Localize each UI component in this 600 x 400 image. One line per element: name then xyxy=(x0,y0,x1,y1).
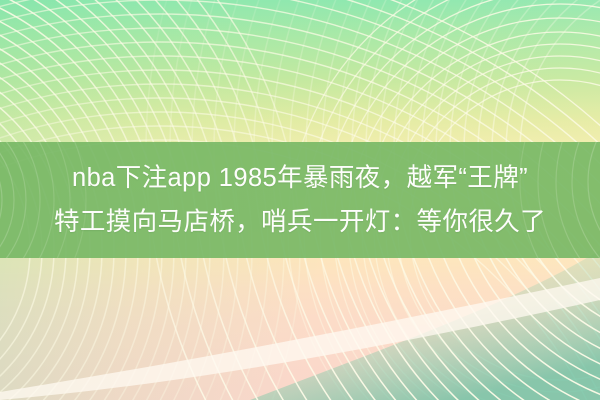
headline-line-2: 特工摸向马店桥，哨兵一开灯：等你很久了 xyxy=(54,200,546,244)
headline-banner: nba下注app 1985年暴雨夜，越军“王牌” 特工摸向马店桥，哨兵一开灯：等… xyxy=(0,142,600,258)
poster-image: nba下注app 1985年暴雨夜，越军“王牌” 特工摸向马店桥，哨兵一开灯：等… xyxy=(0,0,600,400)
headline-text-block: nba下注app 1985年暴雨夜，越军“王牌” 特工摸向马店桥，哨兵一开灯：等… xyxy=(0,142,600,258)
headline-line-1: nba下注app 1985年暴雨夜，越军“王牌” xyxy=(72,156,528,200)
